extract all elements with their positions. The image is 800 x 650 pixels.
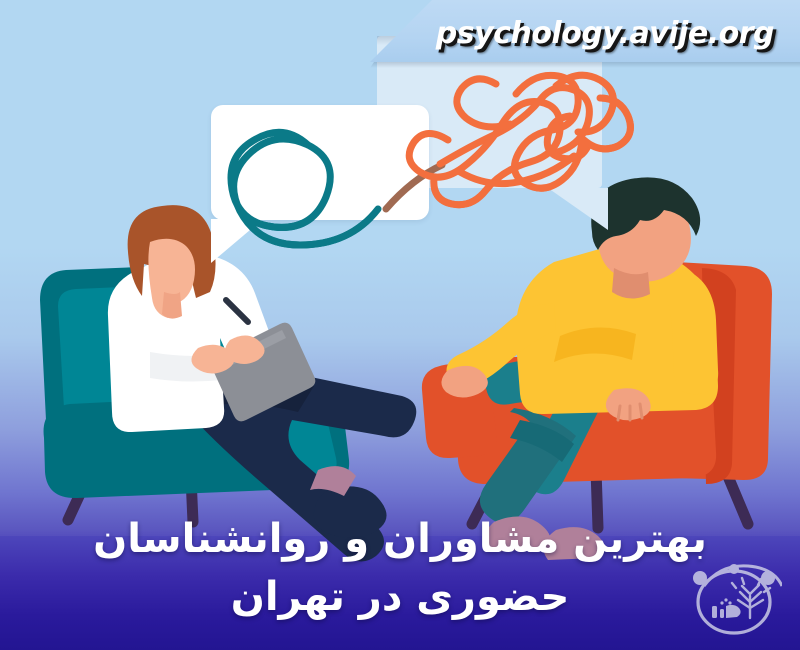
teal-chair-seat (44, 392, 350, 498)
client-neck (612, 268, 650, 299)
client-sweater-arm2 (656, 270, 718, 394)
pen (226, 300, 248, 322)
logo-knob-right (761, 571, 775, 585)
therapist-ankle (310, 466, 356, 496)
headline-line-1: بهترین مشاوران و روانشناسان (0, 512, 800, 566)
clipboard-shade (222, 330, 286, 368)
client-pants-cross (480, 408, 576, 523)
banner-drop-shadow (370, 62, 800, 68)
headline-block: بهترین مشاوران و روانشناسان حضوری در تهر… (0, 512, 800, 628)
clear-bubble-tail (211, 219, 263, 263)
client-hand-left (441, 366, 487, 398)
client-pants-shade (510, 420, 574, 462)
clear-thought-bubble (211, 105, 429, 220)
client-sweater (516, 245, 718, 414)
site-url[interactable]: psychology.avije.org (436, 16, 774, 51)
clipboard (211, 323, 316, 422)
therapist-hand (225, 335, 265, 364)
therapist-neck (162, 292, 182, 319)
teal-chair-back (40, 264, 249, 466)
client-fingers (618, 404, 642, 420)
logo-knob-mid (729, 564, 739, 574)
teal-chair-legs (68, 448, 340, 522)
therapist-hair (128, 205, 216, 298)
tangled-bubble-tail (548, 188, 608, 230)
orange-chair-back (646, 262, 772, 480)
orange-chair-arm (422, 363, 497, 458)
orange-chair-seat (456, 352, 716, 484)
orange-chair-back-shade (700, 268, 736, 484)
orange-chair-arm-shade (444, 368, 486, 388)
client-pants-upper (486, 358, 625, 411)
avije-logo[interactable] (686, 552, 782, 644)
client-face (598, 192, 691, 282)
client-pants-lower (524, 379, 602, 494)
therapist-sweater (108, 253, 280, 432)
therapist-group (40, 205, 416, 561)
therapist-face (148, 239, 195, 318)
therapist-pants-shade (204, 376, 314, 412)
logo-knob-left (693, 571, 707, 585)
client-group (422, 177, 772, 560)
therapist-hand-2 (191, 345, 234, 374)
therapist-sweater-shade (150, 352, 246, 382)
client-hand-right (606, 388, 651, 420)
headline-line-2: حضوری در تهران (0, 566, 800, 628)
teal-chair-back-inner (58, 283, 238, 423)
client-sweater-arm (447, 304, 557, 389)
teal-chair-arm-right (252, 379, 337, 482)
therapist-arm (212, 300, 274, 394)
poster-canvas: psychology.avije.org بهترین مشاوران و رو… (0, 0, 800, 650)
logo-word (712, 598, 741, 618)
client-sweater-shade (554, 327, 636, 362)
